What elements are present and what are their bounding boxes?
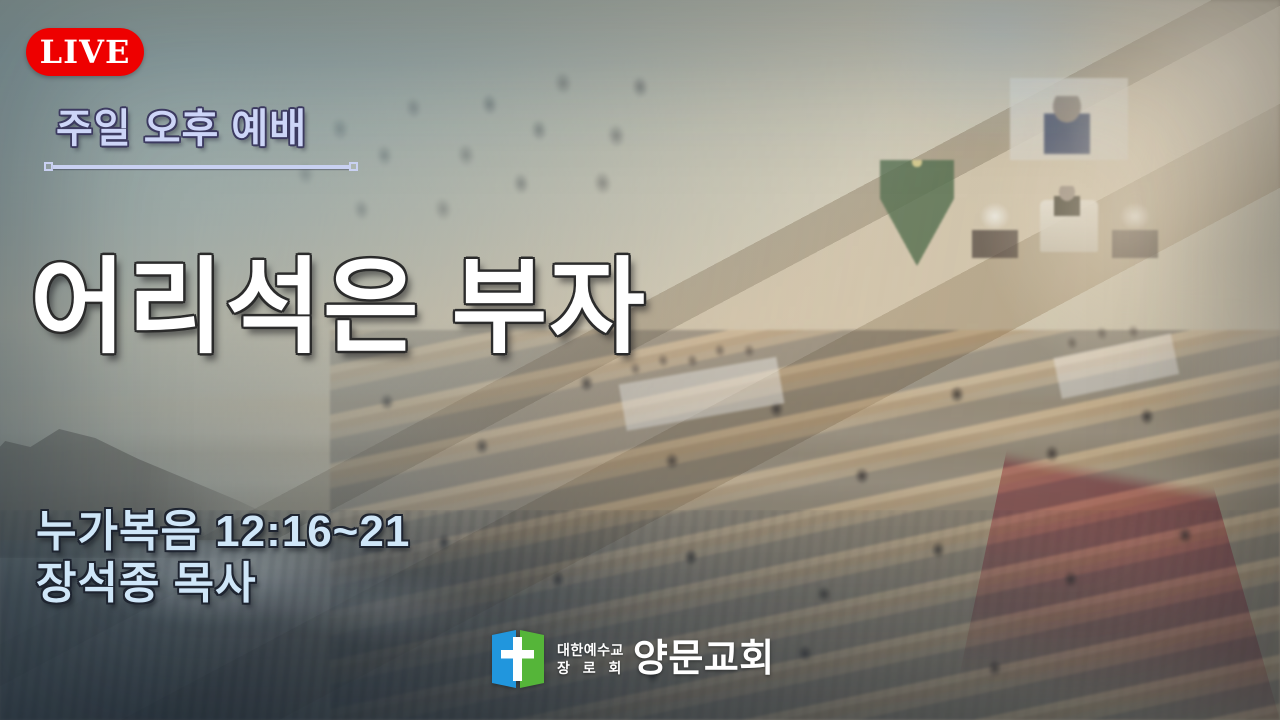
church-logo: 대한예수교 장 로 회 양문교회 [490, 628, 775, 690]
sermon-title: 어리석은 부자 [30, 252, 647, 364]
scripture-block: 누가복음 12:16~21 장석종 목사 [36, 506, 410, 610]
scripture-reference: 누가복음 12:16~21 [36, 506, 410, 558]
church-cross-logo-icon [490, 628, 546, 690]
live-badge: LIVE [26, 28, 144, 76]
church-denomination: 대한예수교 장 로 회 [557, 641, 626, 678]
church-logo-text: 대한예수교 장 로 회 양문교회 [557, 640, 775, 678]
denomination-line-2: 장 로 회 [557, 659, 626, 677]
preacher-name: 장석종 목사 [36, 558, 410, 610]
service-name: 주일 오후 예배 [56, 96, 307, 154]
denomination-line-1: 대한예수교 [557, 641, 626, 659]
broadcast-overlay-stage: LIVE 주일 오후 예배 어리석은 부자 누가복음 12:16~21 장석종 … [0, 0, 1280, 720]
live-badge-label: LIVE [40, 36, 131, 68]
service-name-underline [44, 163, 358, 170]
underline-cap-left [44, 162, 53, 171]
church-name: 양문교회 [633, 640, 775, 678]
underline-cap-right [349, 162, 358, 171]
underline-bar [53, 165, 349, 169]
